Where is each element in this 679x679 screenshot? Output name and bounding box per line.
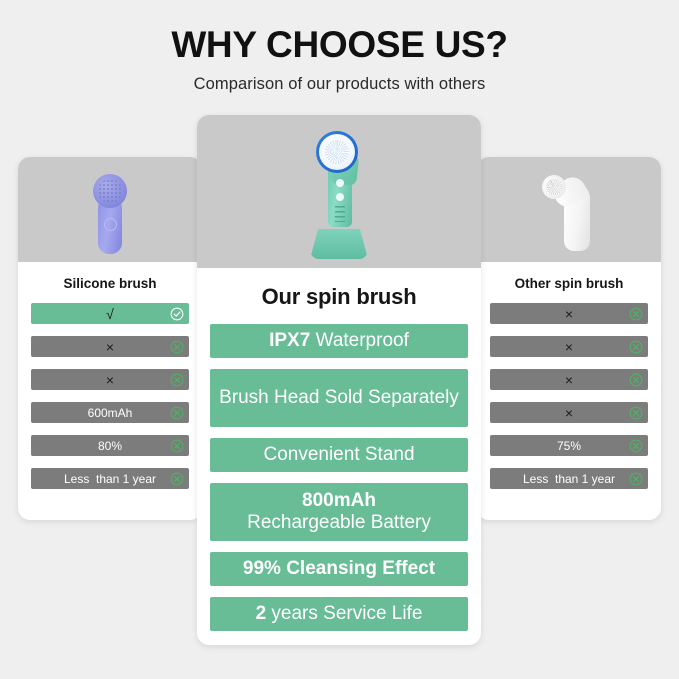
feature-bar-label: Brush Head Sold Separately (219, 387, 459, 409)
feature-row-list-left: √××600mAh80%Less than 1 year (18, 303, 202, 489)
feature-row: × (490, 369, 648, 390)
feature-row: × (31, 336, 189, 357)
comparison-card-our-spin-brush[interactable]: Our spin brush IPX7 WaterproofBrush Head… (197, 115, 481, 645)
feature-row: × (490, 303, 648, 324)
feature-row-label: × (565, 406, 573, 420)
cross-circle-icon (629, 340, 643, 354)
feature-row-label: × (106, 373, 114, 387)
feature-bar-label: 2 years Service Life (256, 603, 423, 625)
feature-row: Less than 1 year (490, 468, 648, 489)
feature-row: 600mAh (31, 402, 189, 423)
feature-row-label: × (565, 373, 573, 387)
cross-circle-icon (170, 373, 184, 387)
page-title: WHY CHOOSE US? (0, 26, 679, 65)
cross-circle-icon (170, 340, 184, 354)
header: WHY CHOOSE US? Comparison of our product… (0, 26, 679, 94)
purple-silicone-brush-icon (87, 168, 133, 254)
feature-bar-label: 99% Cleansing Effect (243, 558, 435, 580)
cross-circle-icon (170, 472, 184, 486)
column-title-right: Other spin brush (477, 276, 661, 291)
product-image-panel-left (18, 157, 202, 262)
feature-row: 80% (31, 435, 189, 456)
feature-row-list-right: ××××75%Less than 1 year (477, 303, 661, 489)
feature-row: × (490, 402, 648, 423)
cross-circle-icon (629, 307, 643, 321)
check-circle-icon (170, 307, 184, 321)
cross-circle-icon (629, 439, 643, 453)
feature-row-label: × (565, 307, 573, 321)
cross-circle-icon (170, 439, 184, 453)
feature-row: × (490, 336, 648, 357)
feature-row: √ (31, 303, 189, 324)
feature-row-label: 600mAh (88, 407, 133, 419)
feature-row-label: × (565, 340, 573, 354)
product-image-panel-center (197, 115, 481, 268)
column-title-left: Silicone brush (18, 276, 202, 291)
feature-row: 75% (490, 435, 648, 456)
cross-circle-icon (629, 472, 643, 486)
column-title-center: Our spin brush (197, 284, 481, 310)
feature-bar-label: Convenient Stand (263, 444, 414, 466)
feature-bar: 99% Cleansing Effect (210, 552, 468, 586)
feature-row-label: 80% (98, 440, 122, 452)
feature-row-label: Less than 1 year (64, 473, 156, 485)
feature-bar: 2 years Service Life (210, 597, 468, 631)
feature-bar: IPX7 Waterproof (210, 324, 468, 358)
feature-bar-label: IPX7 Waterproof (269, 330, 409, 352)
page-subtitle: Comparison of our products with others (0, 75, 679, 94)
feature-row-label: × (106, 340, 114, 354)
feature-bar: Convenient Stand (210, 438, 468, 472)
feature-row-label: √ (106, 307, 114, 321)
cross-circle-icon (629, 406, 643, 420)
feature-row: Less than 1 year (31, 468, 189, 489)
cross-circle-icon (629, 373, 643, 387)
feature-row-label: 75% (557, 440, 581, 452)
comparison-card-silicone-brush[interactable]: Silicone brush √××600mAh80%Less than 1 y… (18, 157, 202, 520)
white-spin-brush-icon (534, 171, 604, 255)
feature-row: × (31, 369, 189, 390)
cross-circle-icon (170, 406, 184, 420)
comparison-card-other-spin-brush[interactable]: Other spin brush ××××75%Less than 1 year (477, 157, 661, 520)
mint-spin-brush-icon (294, 127, 384, 259)
feature-bar-list-center: IPX7 WaterproofBrush Head Sold Separatel… (197, 324, 481, 631)
feature-row-label: Less than 1 year (523, 473, 615, 485)
product-image-panel-right (477, 157, 661, 262)
feature-bar-label: 800mAhRechargeable Battery (247, 490, 431, 535)
feature-bar: 800mAhRechargeable Battery (210, 483, 468, 541)
feature-bar: Brush Head Sold Separately (210, 369, 468, 427)
